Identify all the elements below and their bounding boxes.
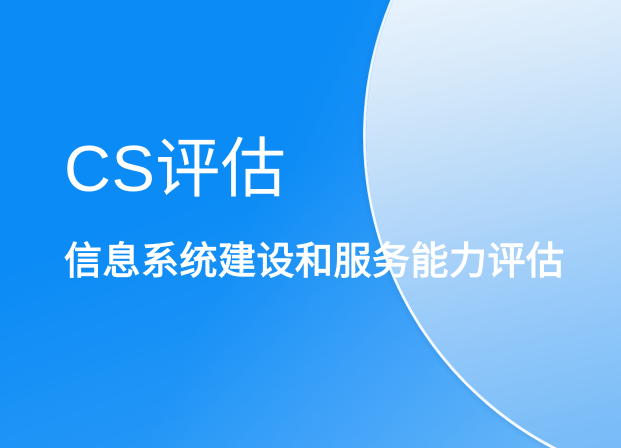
banner-title: CS评估 [64, 132, 604, 206]
cs-assessment-banner: CS评估 信息系统建设和服务能力评估 [0, 0, 621, 448]
banner-text-block: CS评估 信息系统建设和服务能力评估 [64, 132, 604, 284]
banner-subtitle: 信息系统建设和服务能力评估 [64, 240, 604, 284]
